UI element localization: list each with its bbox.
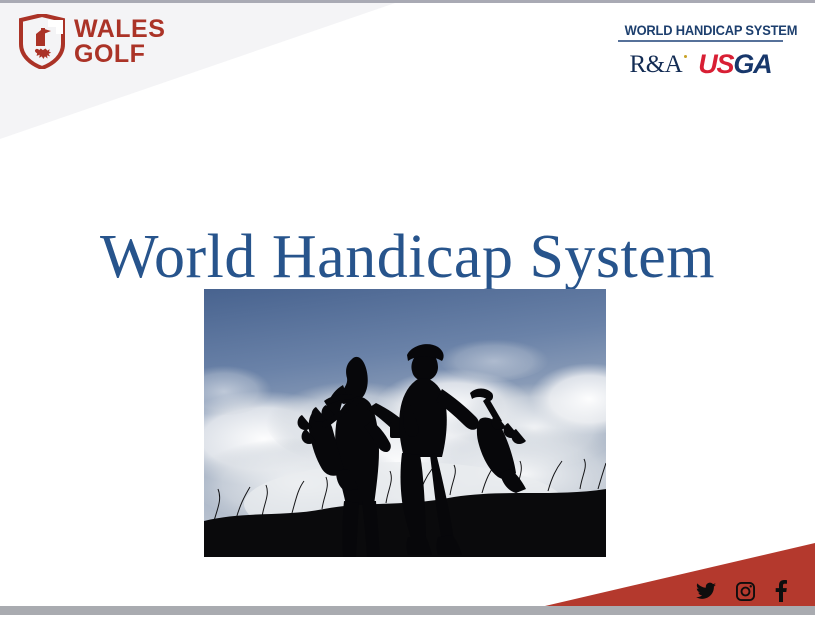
presentation-slide: WALES GOLF WORLD HANDICAP SYSTEM R&A USG… [0, 0, 815, 621]
wales-golf-line1: WALES [74, 17, 165, 42]
usga-label-ga: GA [733, 49, 771, 79]
usga-label-us: US [698, 49, 733, 79]
slide-bottom-margin [0, 615, 815, 621]
slide-top-border [0, 0, 815, 3]
randa-dot-icon [684, 55, 687, 58]
wales-golf-line2: GOLF [74, 42, 165, 67]
whs-logo-title: WORLD HANDICAP SYSTEM [625, 22, 777, 38]
golfers-silhouette-photo [204, 289, 606, 557]
golfers-silhouette-image [204, 289, 606, 557]
facebook-icon[interactable] [775, 580, 787, 602]
world-handicap-system-logo[interactable]: WORLD HANDICAP SYSTEM R&A USGA [618, 22, 783, 78]
randa-logo: R&A [630, 52, 683, 77]
wales-golf-shield-icon [18, 14, 66, 69]
slide-bottom-border [0, 606, 815, 615]
twitter-icon[interactable] [696, 582, 716, 600]
randa-label: R&A [630, 51, 683, 78]
whs-logo-rule [618, 40, 783, 42]
usga-logo: USGA [698, 51, 771, 78]
instagram-icon[interactable] [736, 582, 755, 601]
wales-golf-logo[interactable]: WALES GOLF [18, 14, 165, 69]
social-links [696, 580, 787, 602]
page-title: World Handicap System [0, 222, 815, 293]
whs-governing-bodies: R&A USGA [618, 51, 783, 78]
